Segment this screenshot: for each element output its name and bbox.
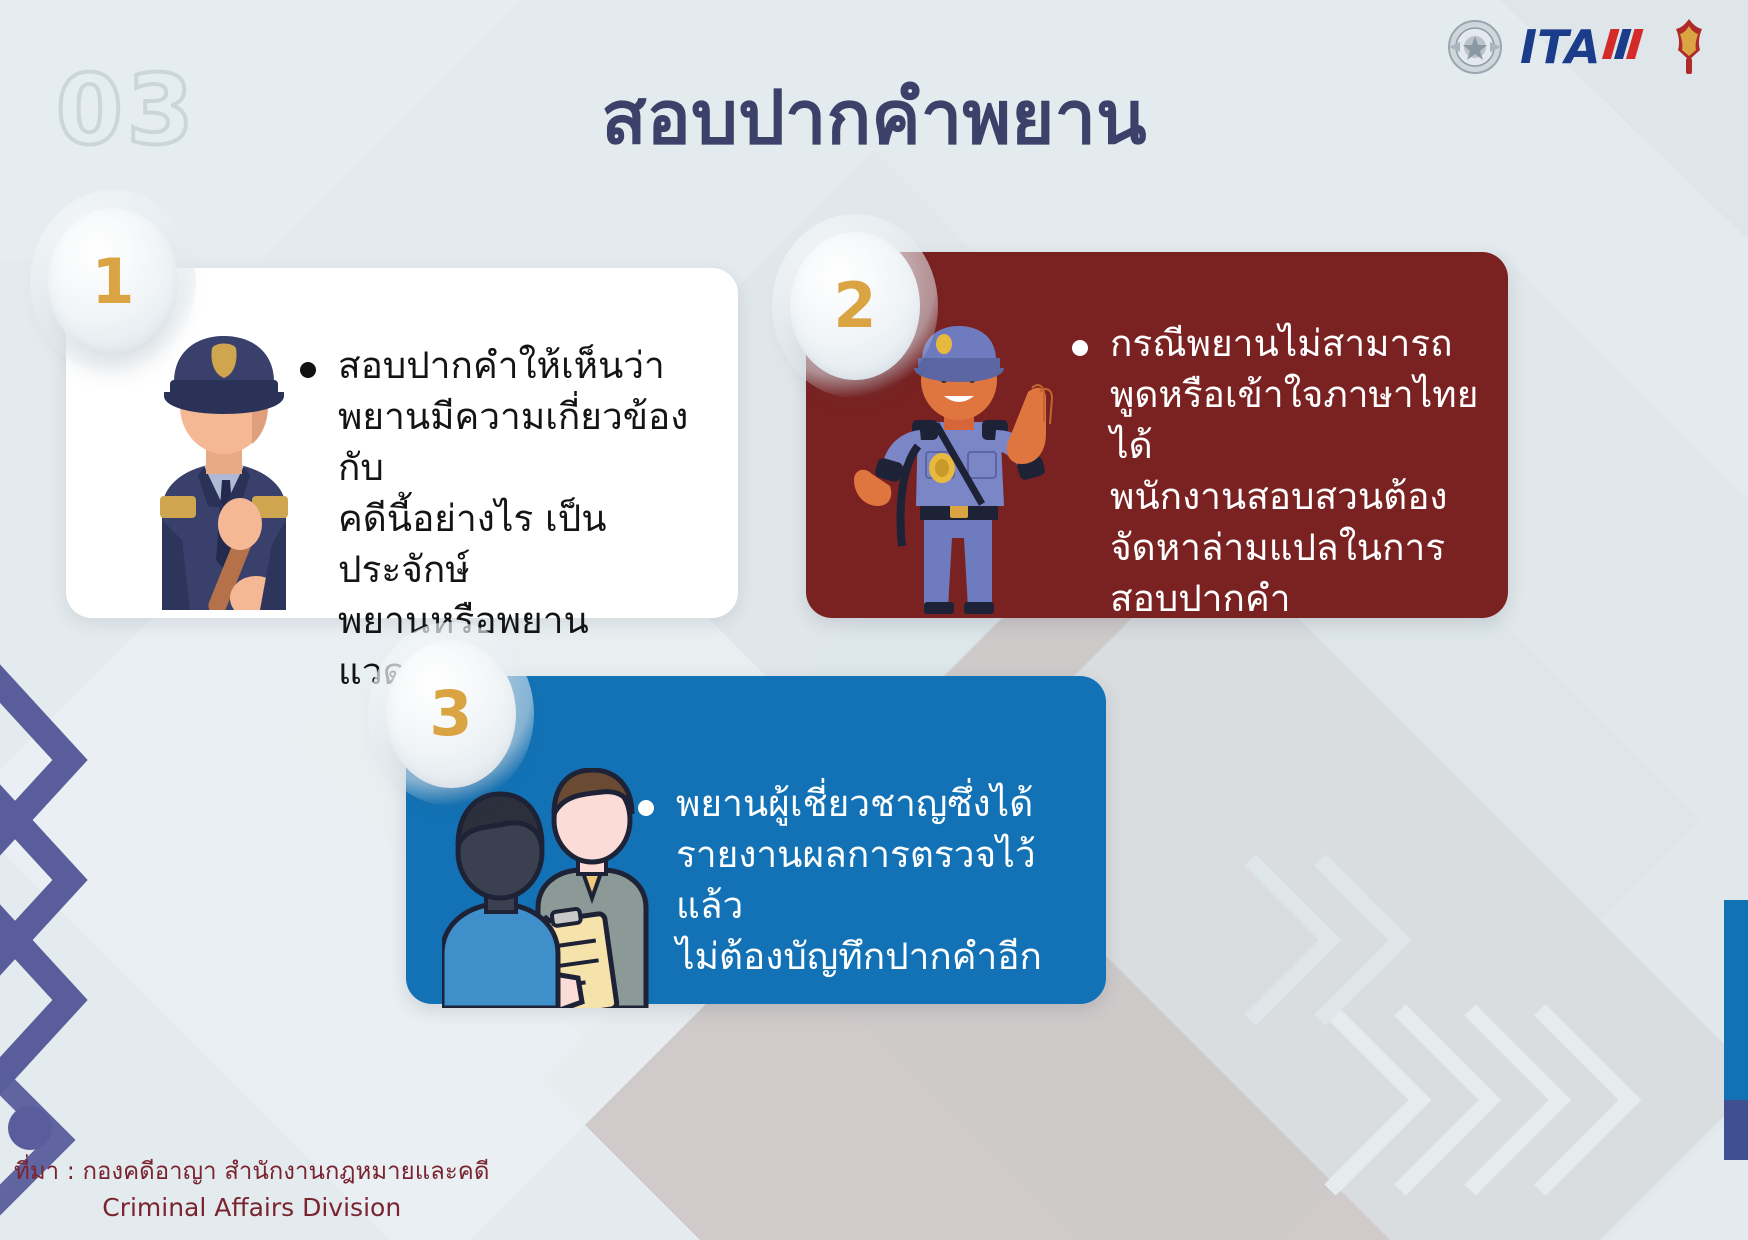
badge-2-number: 2 xyxy=(833,275,876,337)
card-1-line-1: สอบปากคำให้เห็นว่า xyxy=(338,340,720,391)
ita-logo: ITA xyxy=(1518,17,1658,77)
card-2-line-5: สอบปากคำ xyxy=(1110,573,1512,624)
card-1-line-3: คดีนี้อย่างไร เป็นประจักษ์ xyxy=(338,493,720,595)
card-1-text: สอบปากคำให้เห็นว่า พยานมีความเกี่ยวข้องก… xyxy=(300,340,720,697)
card-2-line-2: พูดหรือเข้าใจภาษาไทยได้ xyxy=(1110,369,1512,471)
footer: ที่มา : กองคดีอาญา สำนักงานกฎหมายและคดี … xyxy=(14,1153,489,1227)
badge-1: 1 xyxy=(48,208,178,356)
card-2-line-1: กรณีพยานไม่สามารถ xyxy=(1110,318,1512,369)
logo-bar: ITA xyxy=(1442,14,1710,80)
card-2-line-3: พนักงานสอบสวนต้อง xyxy=(1110,471,1512,522)
page-title: สอบปากคำพยาน xyxy=(0,78,1748,159)
garuda-emblem-icon xyxy=(1668,16,1710,78)
bullet-dot xyxy=(300,362,316,378)
royal-emblem-icon xyxy=(1442,14,1508,80)
footer-source: ที่มา : กองคดีอาญา สำนักงานกฎหมายและคดี xyxy=(14,1153,489,1189)
card-1-lines: สอบปากคำให้เห็นว่า พยานมีความเกี่ยวข้องก… xyxy=(338,340,720,697)
card-1-line-2: พยานมีความเกี่ยวข้องกับ xyxy=(338,391,720,493)
card-2-line-4: จัดหาล่ามแปลในการ xyxy=(1110,522,1512,573)
bullet-dot xyxy=(1072,340,1088,356)
badge-2: 2 xyxy=(790,232,920,380)
card-3-line-2: รายงานผลการตรวจไว้แล้ว xyxy=(676,829,1078,931)
badge-1-number: 1 xyxy=(91,251,134,313)
card-3-line-1: พยานผู้เชี่ยวชาญซึ่งได้ xyxy=(676,778,1078,829)
footer-division: Criminal Affairs Division xyxy=(14,1189,489,1227)
svg-text:ITA: ITA xyxy=(1520,20,1601,74)
card-2-lines: กรณีพยานไม่สามารถ พูดหรือเข้าใจภาษาไทยได… xyxy=(1110,318,1512,624)
card-3-line-3: ไม่ต้องบัญทึกปากคำอีก xyxy=(676,931,1078,982)
badge-3-number: 3 xyxy=(429,683,472,745)
bullet-dot xyxy=(638,800,654,816)
card-3-text: พยานผู้เชี่ยวชาญซึ่งได้ รายงานผลการตรวจไ… xyxy=(638,778,1078,982)
card-3-lines: พยานผู้เชี่ยวชาญซึ่งได้ รายงานผลการตรวจไ… xyxy=(676,778,1078,982)
badge-3: 3 xyxy=(386,640,516,788)
card-2-text: กรณีพยานไม่สามารถ พูดหรือเข้าใจภาษาไทยได… xyxy=(1072,318,1512,624)
